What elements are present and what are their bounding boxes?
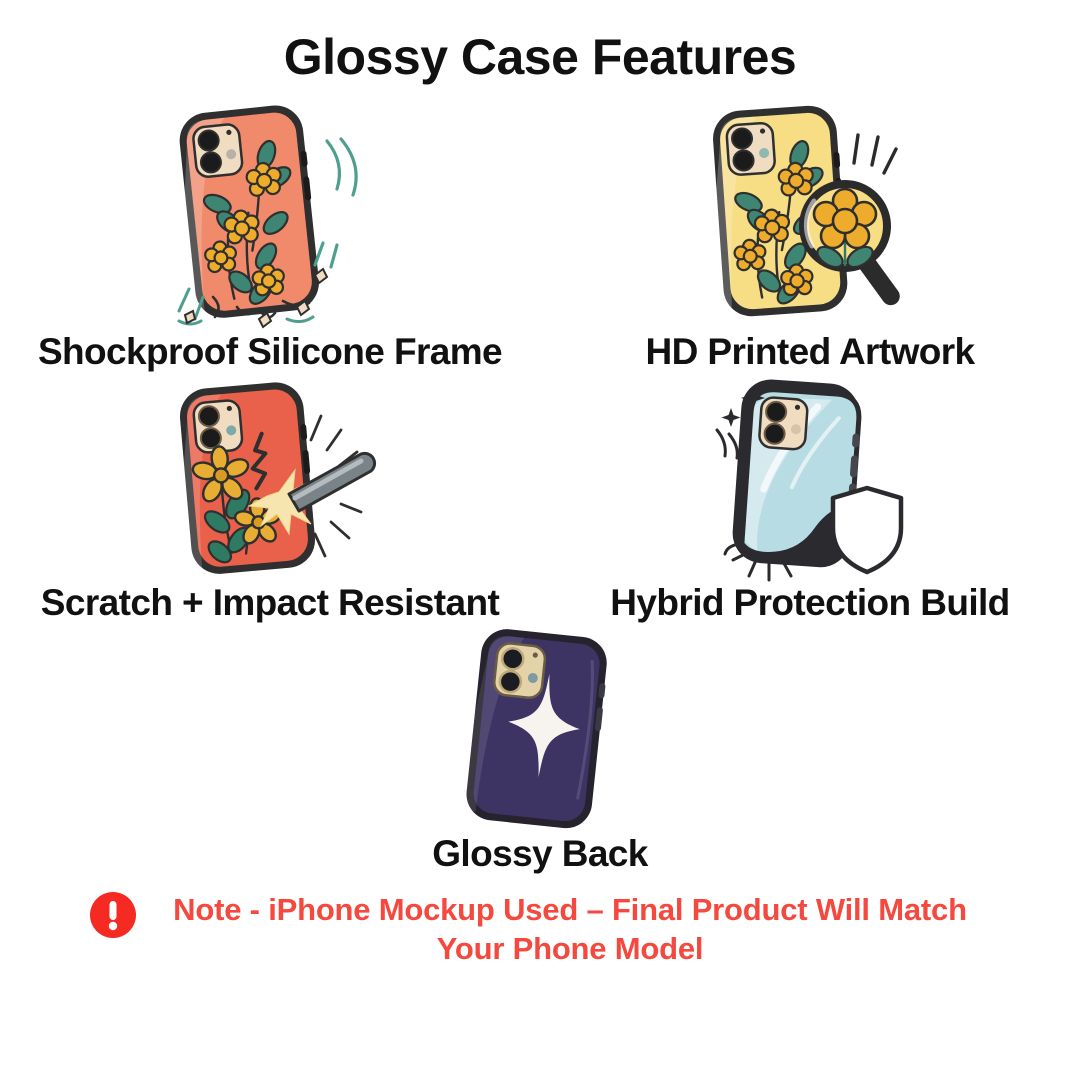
note-text: Note - iPhone Mockup Used – Final Produc… (150, 890, 990, 969)
feature-item-shockproof-silicone-frame: Shockproof Silicone Frame (0, 93, 540, 372)
phone-case-blue-glossy-shield-icon (695, 372, 925, 582)
phone-case-red-floral-blade-icon (155, 372, 385, 582)
feature-illustration (155, 93, 385, 331)
feature-illustration (440, 623, 640, 833)
feature-label: Glossy Back (432, 835, 648, 874)
feature-infographic: Glossy Case Features (0, 0, 1080, 1080)
feature-illustration (690, 93, 930, 331)
phone-case-yellow-floral-magnifier-icon (690, 93, 930, 331)
note-banner: Note - iPhone Mockup Used – Final Produc… (40, 890, 1040, 969)
page-title: Glossy Case Features (284, 30, 797, 85)
feature-illustration (695, 372, 925, 582)
feature-label: HD Printed Artwork (645, 333, 974, 372)
feature-item-hd-printed-artwork: HD Printed Artwork (540, 93, 1080, 372)
shield-icon (833, 488, 901, 572)
feature-label: Hybrid Protection Build (610, 584, 1009, 623)
phone-case-coral-floral-shock-icon (155, 93, 385, 331)
feature-grid: Shockproof Silicone Frame (0, 93, 1080, 874)
feature-illustration (155, 372, 385, 582)
exclamation-circle-icon (90, 892, 136, 938)
phone-case-purple-glossy-sparkle-icon (440, 625, 640, 831)
feature-item-scratch-impact-resistant: Scratch + Impact Resistant (0, 372, 540, 623)
feature-item-glossy-back: Glossy Back (0, 623, 1080, 874)
feature-item-hybrid-protection-build: Hybrid Protection Build (540, 372, 1080, 623)
feature-label: Shockproof Silicone Frame (38, 333, 502, 372)
feature-label: Scratch + Impact Resistant (41, 584, 499, 623)
